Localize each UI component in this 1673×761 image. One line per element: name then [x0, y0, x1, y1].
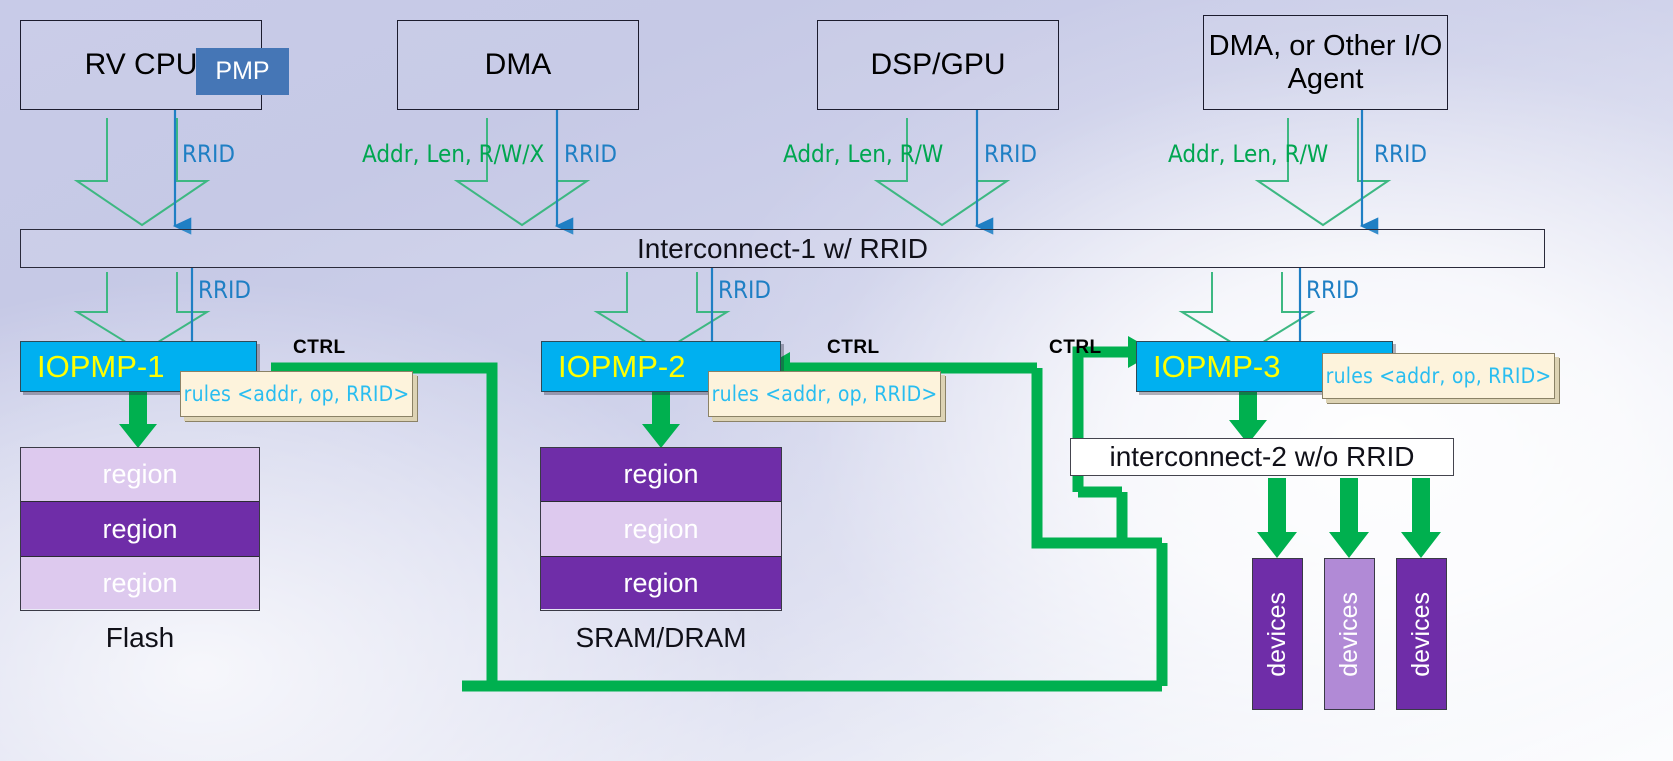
diagram-canvas: RV CPU PMP DMA DSP/GPU DMA, or Other I/O… — [0, 0, 1673, 761]
sram-region-1[interactable]: region — [541, 502, 781, 557]
memory-label-sram-dram: SRAM/DRAM — [540, 622, 782, 654]
agent-box-dsp-gpu[interactable]: DSP/GPU — [817, 20, 1059, 110]
agent-label-dsp-gpu: DSP/GPU — [870, 48, 1005, 82]
signal-label-rrid-io: RRID — [1374, 140, 1427, 168]
agent-box-io-agent[interactable]: DMA, or Other I/O Agent — [1203, 15, 1448, 110]
iopmp-3-rules-note[interactable]: rules <addr, op, RRID> — [1322, 353, 1555, 399]
device-block-1-label: devices — [1335, 592, 1364, 677]
ctrl-label-iopmp-3: CTRL — [1049, 337, 1102, 359]
signal-label-rrid-iopmp1: RRID — [198, 276, 251, 304]
device-block-2[interactable]: devices — [1396, 558, 1447, 710]
signal-label-rrid-iopmp3: RRID — [1306, 276, 1359, 304]
flash-region-1[interactable]: region — [21, 502, 259, 557]
signal-label-rrid-dsp: RRID — [984, 140, 1037, 168]
sram-region-0[interactable]: region — [541, 448, 781, 502]
interconnect-2-bar[interactable]: interconnect-2 w/o RRID — [1070, 438, 1454, 476]
memory-sram-dram-regions: region region region — [540, 447, 782, 611]
memory-flash-regions: region region region — [20, 447, 260, 611]
iopmp-2-rules-note[interactable]: rules <addr, op, RRID> — [708, 371, 941, 417]
agent-label-rv-cpu: RV CPU — [85, 48, 198, 82]
signal-label-data-dma: Addr, Len, R/W/X — [362, 140, 544, 168]
device-block-1[interactable]: devices — [1324, 558, 1375, 710]
device-block-2-label: devices — [1407, 592, 1436, 677]
sram-region-2[interactable]: region — [541, 557, 781, 609]
memory-label-flash: Flash — [20, 622, 260, 654]
pmp-label: PMP — [215, 57, 269, 86]
iopmp-1-rules-note[interactable]: rules <addr, op, RRID> — [180, 371, 413, 417]
sram-region-2-label: region — [623, 568, 698, 599]
signal-label-data-dsp: Addr, Len, R/W — [783, 140, 943, 168]
iopmp-3-label: IOPMP-3 — [1153, 349, 1280, 385]
signal-label-rrid-dma: RRID — [564, 140, 617, 168]
device-block-0[interactable]: devices — [1252, 558, 1303, 710]
interconnect-1-bar[interactable]: Interconnect-1 w/ RRID — [20, 229, 1545, 268]
flash-region-0-label: region — [102, 459, 177, 490]
flash-region-2[interactable]: region — [21, 557, 259, 609]
iopmp-1-label: IOPMP-1 — [37, 349, 164, 385]
pmp-block[interactable]: PMP — [196, 48, 289, 95]
flash-region-0[interactable]: region — [21, 448, 259, 502]
signal-label-rrid-cpu: RRID — [182, 140, 235, 168]
agent-label-io-agent: DMA, or Other I/O Agent — [1204, 30, 1447, 95]
agent-label-dma: DMA — [485, 48, 552, 82]
ctrl-label-iopmp-2: CTRL — [827, 337, 880, 359]
agent-box-dma[interactable]: DMA — [397, 20, 639, 110]
flash-region-1-label: region — [102, 514, 177, 545]
flash-region-2-label: region — [102, 568, 177, 599]
iopmp-2-rules-text: rules <addr, op, RRID> — [712, 382, 938, 406]
sram-region-0-label: region — [623, 459, 698, 490]
interconnect-2-label: interconnect-2 w/o RRID — [1109, 441, 1414, 473]
iopmp-2-label: IOPMP-2 — [558, 349, 685, 385]
signal-label-rrid-iopmp2: RRID — [718, 276, 771, 304]
iopmp-3-rules-text: rules <addr, op, RRID> — [1326, 364, 1552, 388]
interconnect-1-label: Interconnect-1 w/ RRID — [637, 233, 928, 265]
iopmp-1-rules-text: rules <addr, op, RRID> — [184, 382, 410, 406]
ctrl-label-iopmp-1: CTRL — [293, 337, 346, 359]
sram-region-1-label: region — [623, 514, 698, 545]
signal-label-data-io: Addr, Len, R/W — [1168, 140, 1328, 168]
device-block-0-label: devices — [1263, 592, 1292, 677]
